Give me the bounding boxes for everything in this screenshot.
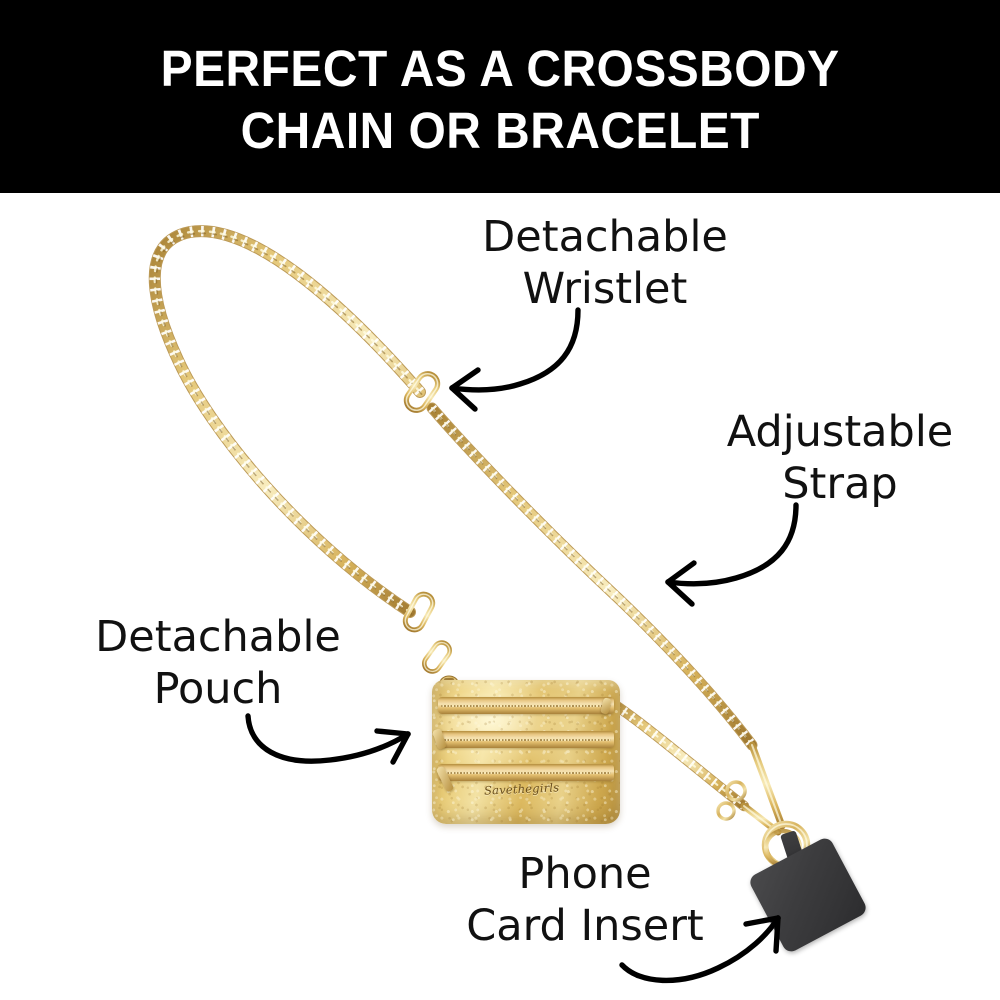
zipper-band-bottom — [438, 764, 614, 781]
callout-label-detachable-pouch: Detachable Pouch — [48, 611, 388, 715]
pouch-clasp-link-lower — [421, 639, 453, 674]
infographic-canvas: PERFECT AS A CROSSBODY CHAIN OR BRACELET — [0, 0, 1000, 1000]
callout-label-adjustable-strap: Adjustable Strap — [690, 406, 990, 510]
chain-connector-bars — [744, 745, 782, 832]
gold-pouch: Savethegirls — [432, 680, 620, 824]
chain-upper-loop — [155, 231, 422, 614]
pouch-clasp-link-upper — [402, 591, 436, 633]
callout-label-phone-card-insert: Phone Card Insert — [420, 848, 750, 952]
zipper-band-middle — [438, 731, 614, 748]
pouch-body: Savethegirls — [432, 680, 620, 824]
zipper-band-top — [438, 697, 614, 714]
callout-label-detachable-wristlet: Detachable Wristlet — [455, 211, 755, 315]
